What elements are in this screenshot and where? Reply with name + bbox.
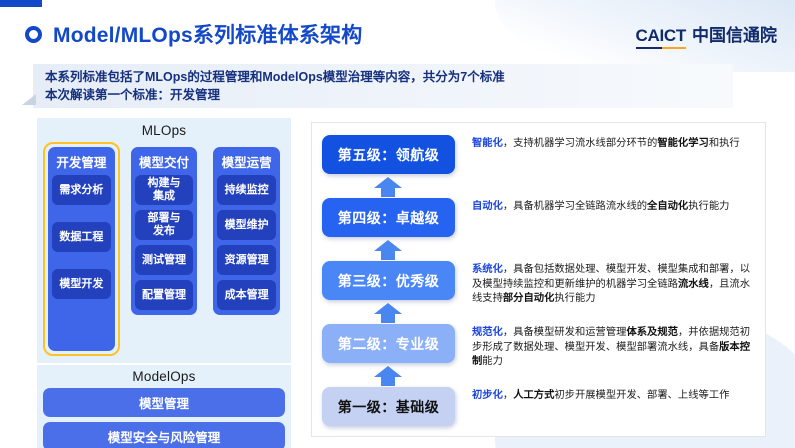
- description-emphasis: 流水线: [678, 279, 709, 290]
- mlops-tile[interactable]: 持续监控: [217, 175, 276, 205]
- mlops-block: MLOps 开发管理需求分析数据工程模型开发模型交付构建与集成部署与发布测试管理…: [37, 118, 291, 363]
- description-emphasis: 人工方式: [513, 390, 554, 401]
- page-title: Model/MLOps系列标准体系架构: [53, 19, 362, 49]
- description-text: 执行能力: [688, 201, 729, 212]
- modelops-bar[interactable]: 模型安全与风险管理: [43, 422, 285, 448]
- mlops-tile[interactable]: 配置管理: [135, 280, 194, 310]
- maturity-level-box[interactable]: 第二级：专业级: [322, 324, 455, 363]
- mlops-tile-spacer: [52, 316, 111, 346]
- description-keyword: 自动化: [472, 201, 503, 212]
- mlops-column-head: 开发管理: [52, 150, 111, 175]
- description-text: 执行能力: [554, 293, 595, 304]
- description-emphasis: 智能化学习: [657, 138, 708, 149]
- description-text: ，支持机器学习流水线部分环节的: [503, 138, 657, 149]
- description-keyword: 智能化: [472, 138, 503, 149]
- mlops-tile[interactable]: 成本管理: [217, 280, 276, 310]
- logo-name: 中国信通院: [692, 21, 777, 46]
- subtitle-banner-tab: [22, 94, 36, 105]
- mlops-tile[interactable]: 数据工程: [52, 222, 111, 252]
- maturity-levels: 第五级：领航级第四级：卓越级第三级：优秀级第二级：专业级第一级：基础级: [322, 131, 455, 431]
- maturity-level-row: 第五级：领航级: [322, 135, 455, 174]
- standards-architecture-panel: MLOps 开发管理需求分析数据工程模型开发模型交付构建与集成部署与发布测试管理…: [37, 118, 291, 440]
- mlops-column-1[interactable]: 开发管理需求分析数据工程模型开发: [43, 142, 120, 356]
- maturity-level-row: 第三级：优秀级: [322, 261, 455, 300]
- description-keyword: 初步化: [472, 390, 503, 401]
- mlops-tile[interactable]: 模型维护: [217, 210, 276, 240]
- mlops-column-head: 模型交付: [135, 150, 194, 175]
- mlops-tile[interactable]: 构建与集成: [135, 175, 194, 205]
- description-text: 初步开展模型开发、部署、上线等工作: [554, 390, 729, 401]
- maturity-level-row: 第一级：基础级: [322, 387, 455, 426]
- mlops-tile[interactable]: 测试管理: [135, 245, 194, 275]
- ring-icon: [25, 26, 42, 43]
- mlops-tile[interactable]: 需求分析: [52, 175, 111, 205]
- mlops-column-3[interactable]: 模型运营持续监控模型维护资源管理成本管理: [208, 142, 285, 356]
- description-keyword: 系统化: [472, 264, 503, 275]
- maturity-level-description: 自动化，具备机器学习全链路流水线的全自动化执行能力: [472, 200, 754, 215]
- modelops-bars: 模型管理模型安全与风险管理组织结构: [43, 388, 285, 448]
- maturity-level-row: 第四级：卓越级: [322, 198, 455, 237]
- subtitle-line-1: 本系列标准包括了MLOps的过程管理和ModelOps模型治理等内容，共分为7个…: [45, 68, 505, 86]
- modelops-block: ModelOps 模型管理模型安全与风险管理组织结构: [37, 365, 291, 448]
- maturity-level-description: 规范化，具备模型研发和运营管理体系及规范，并依据规范初步形成了数据处理、模型开发…: [472, 326, 754, 370]
- maturity-level-box[interactable]: 第三级：优秀级: [322, 261, 455, 300]
- maturity-level-box[interactable]: 第一级：基础级: [322, 387, 455, 426]
- maturity-level-description: 智能化，支持机器学习流水线部分环节的智能化学习和执行: [472, 137, 754, 152]
- description-emphasis: 部分自动化: [503, 293, 554, 304]
- description-text: ，具备机器学习全链路流水线的: [503, 201, 647, 212]
- maturity-model-panel: 第五级：领航级第四级：卓越级第三级：优秀级第二级：专业级第一级：基础级 智能化，…: [311, 122, 766, 437]
- title-row: Model/MLOps系列标准体系架构: [25, 19, 362, 49]
- mlops-column-head: 模型运营: [217, 150, 276, 175]
- description-keyword: 规范化: [472, 327, 503, 338]
- maturity-descriptions: 智能化，支持机器学习流水线部分环节的智能化学习和执行自动化，具备机器学习全链路流…: [472, 131, 757, 431]
- mlops-column-2[interactable]: 模型交付构建与集成部署与发布测试管理配置管理: [126, 142, 203, 356]
- mlops-tile[interactable]: 模型开发: [52, 269, 111, 299]
- mlops-columns: 开发管理需求分析数据工程模型开发模型交付构建与集成部署与发布测试管理配置管理模型…: [43, 142, 285, 356]
- subtitle-line-2: 本次解读第一个标准：开发管理: [45, 86, 505, 104]
- slide-body: MLOps 开发管理需求分析数据工程模型开发模型交付构建与集成部署与发布测试管理…: [0, 112, 795, 448]
- caict-logo: CAICT 中国信通院: [636, 21, 777, 49]
- maturity-level-box[interactable]: 第五级：领航级: [322, 135, 455, 174]
- maturity-level-row: 第二级：专业级: [322, 324, 455, 363]
- slide-header: Model/MLOps系列标准体系架构 CAICT 中国信通院: [0, 7, 795, 62]
- description-text: ，: [503, 390, 513, 401]
- maturity-level-description: 初步化，人工方式初步开展模型开发、部署、上线等工作: [472, 389, 754, 404]
- mlops-column-body: 开发管理需求分析数据工程模型开发: [48, 147, 115, 351]
- description-emphasis: 全自动化: [647, 201, 688, 212]
- maturity-level-description: 系统化，具备包括数据处理、模型开发、模型集成和部署，以及模型持续监控和更新维护的…: [472, 263, 754, 307]
- mlops-group-title: MLOps: [43, 121, 285, 142]
- description-emphasis: 体系及规范: [626, 327, 677, 338]
- mlops-tile[interactable]: 资源管理: [217, 245, 276, 275]
- modelops-group-title: ModelOps: [43, 367, 285, 388]
- mlops-column-body: 模型交付构建与集成部署与发布测试管理配置管理: [131, 147, 198, 315]
- maturity-level-box[interactable]: 第四级：卓越级: [322, 198, 455, 237]
- subtitle-lines: 本系列标准包括了MLOps的过程管理和ModelOps模型治理等内容，共分为7个…: [33, 68, 505, 104]
- slide-root: Model/MLOps系列标准体系架构 CAICT 中国信通院 本系列标准包括了…: [0, 0, 795, 448]
- subtitle-banner: 本系列标准包括了MLOps的过程管理和ModelOps模型治理等内容，共分为7个…: [33, 64, 733, 108]
- description-text: 能力: [482, 356, 503, 367]
- description-text: 和执行: [709, 138, 740, 149]
- modelops-bar[interactable]: 模型管理: [43, 388, 285, 417]
- mlops-column-body: 模型运营持续监控模型维护资源管理成本管理: [213, 147, 280, 315]
- logo-mark: CAICT: [636, 26, 686, 49]
- top-accent-bar: [0, 0, 42, 7]
- description-text: ，具备模型研发和运营管理: [503, 327, 627, 338]
- mlops-tile[interactable]: 部署与发布: [135, 210, 194, 240]
